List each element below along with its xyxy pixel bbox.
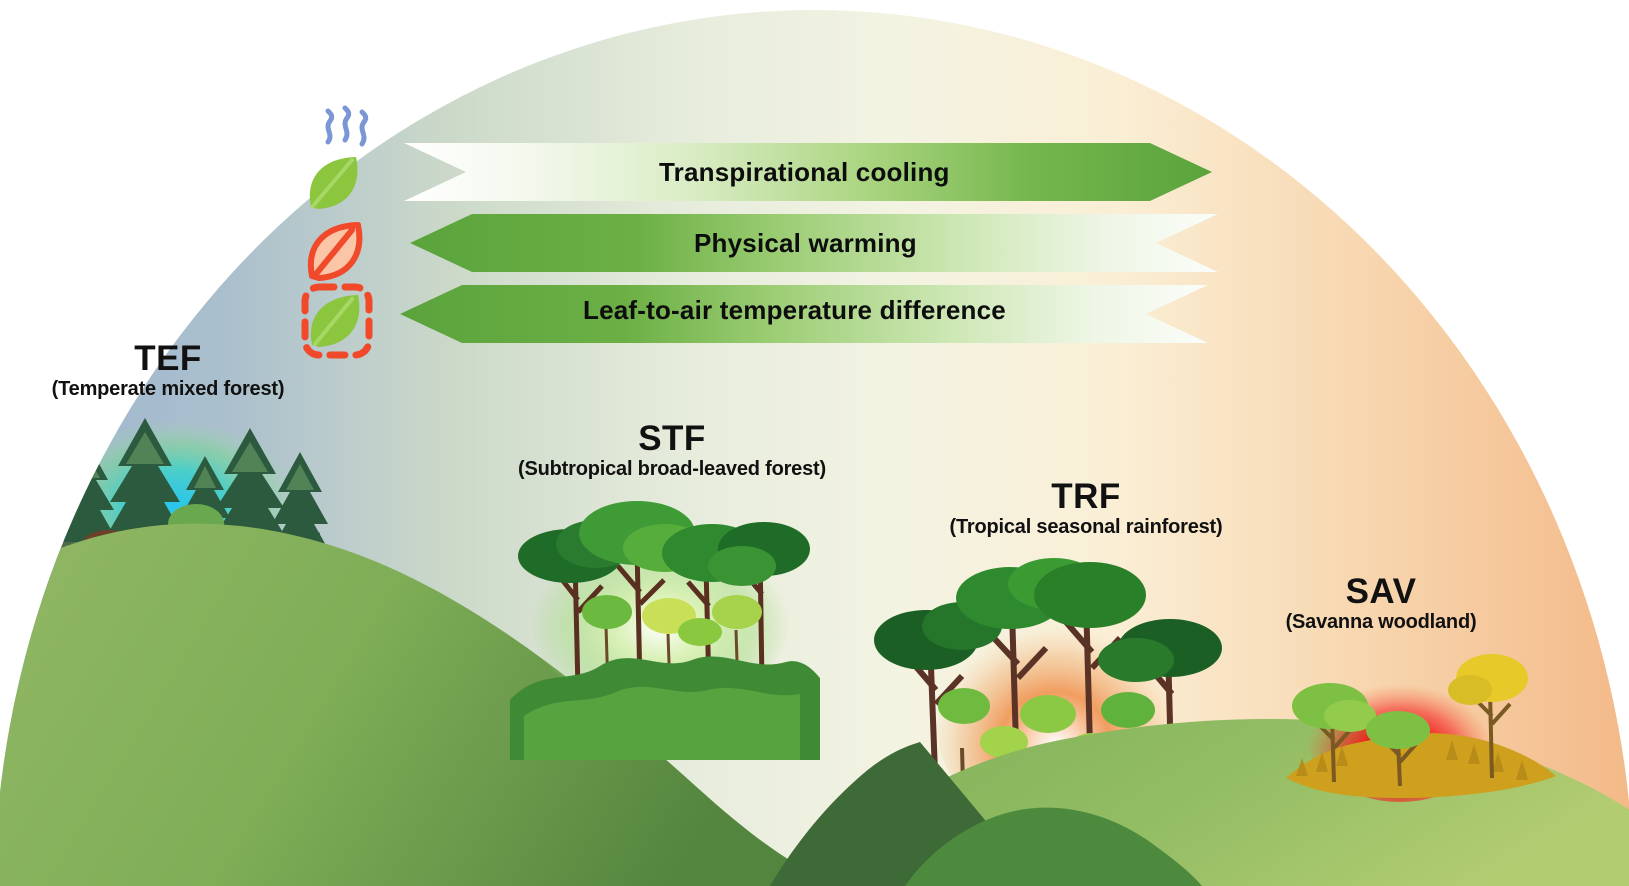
band-label-physical-warming: Physical warming xyxy=(694,228,917,259)
arrow-bands-layer xyxy=(0,0,1629,886)
band-label-transpirational-cooling: Transpirational cooling xyxy=(659,157,950,188)
figure-canvas: Transpirational cooling Physical warming… xyxy=(0,0,1629,886)
band-label-leaf-to-air-temperature-difference: Leaf-to-air temperature difference xyxy=(583,295,1006,326)
